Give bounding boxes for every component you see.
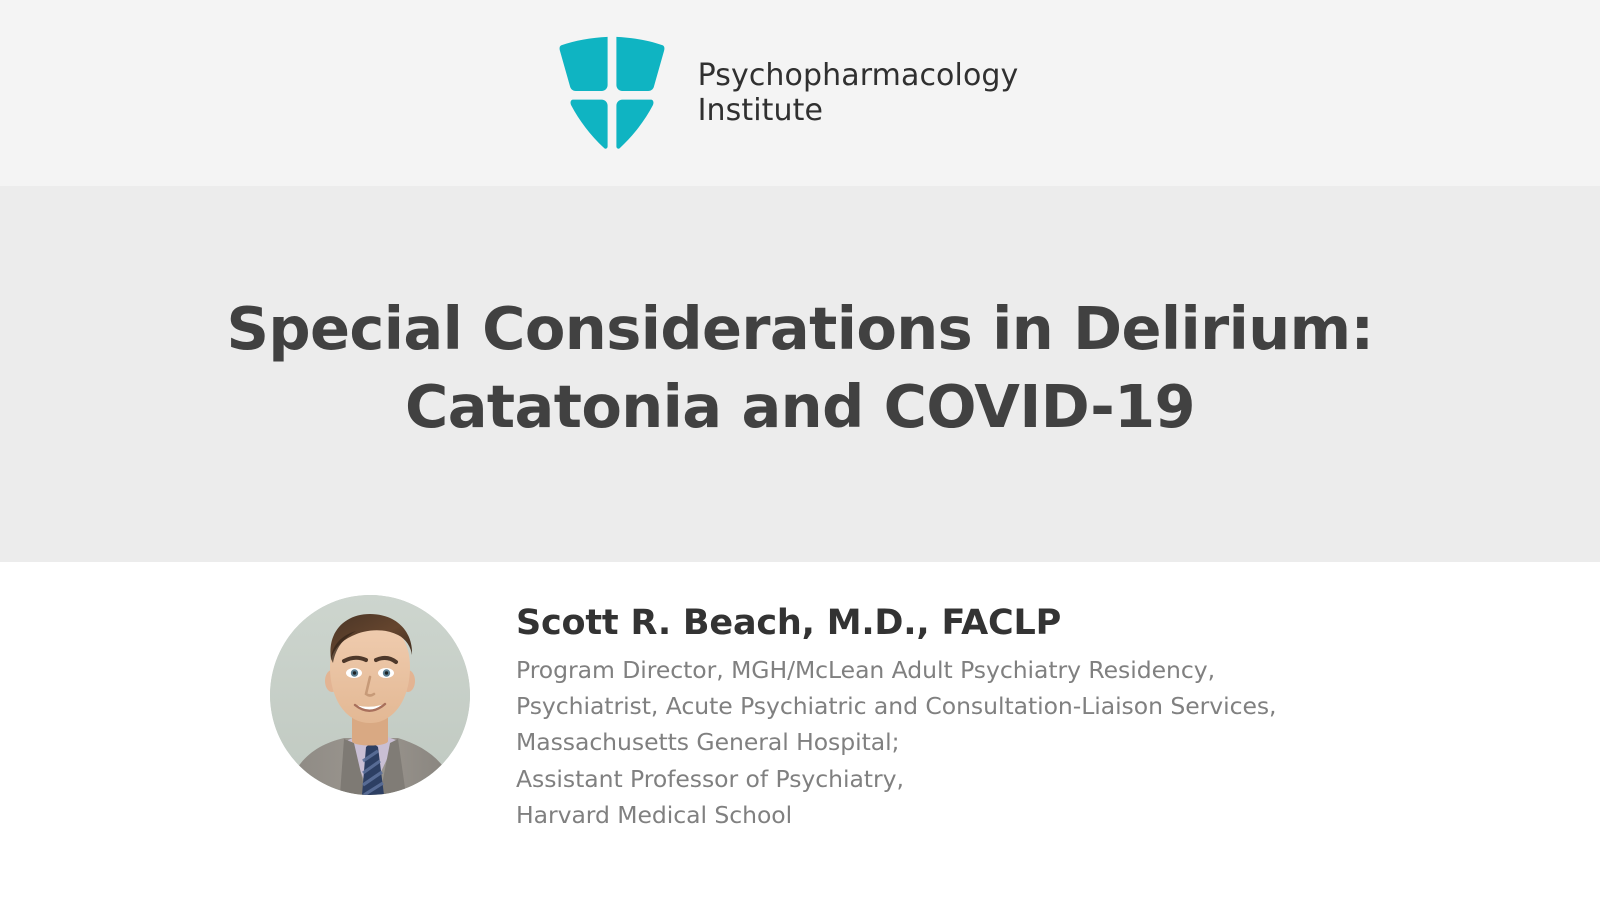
title-slide: Psychopharmacology Institute Special Con… <box>0 0 1600 899</box>
avatar <box>270 595 470 795</box>
header-band: Psychopharmacology Institute <box>0 0 1600 186</box>
brand-name: Psychopharmacology Institute <box>698 58 1019 128</box>
presenter-name: Scott R. Beach, M.D., FACLP <box>516 604 1276 643</box>
title-band: Special Considerations in Delirium: Cata… <box>0 186 1600 562</box>
presenter-info: Scott R. Beach, M.D., FACLP Program Dire… <box>516 595 1276 834</box>
presenter-bio: Program Director, MGH/McLean Adult Psych… <box>516 652 1276 834</box>
shield-quadrant-logo-icon <box>558 36 666 150</box>
presenter-band: Scott R. Beach, M.D., FACLP Program Dire… <box>0 562 1600 899</box>
page-title: Special Considerations in Delirium: Cata… <box>226 290 1373 447</box>
brand-lockup: Psychopharmacology Institute <box>558 36 1019 150</box>
